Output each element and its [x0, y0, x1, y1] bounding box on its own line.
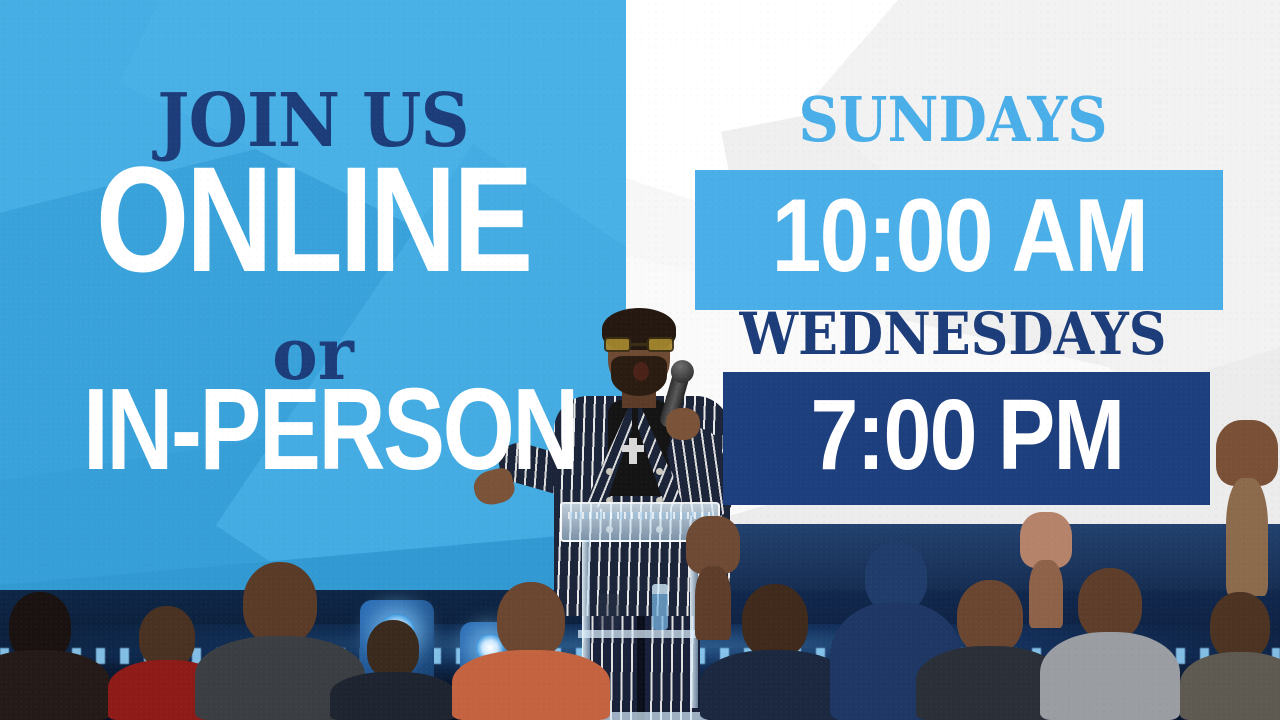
schedule-time-wednesdays: 7:00 PM	[810, 385, 1123, 493]
schedule-day-wednesdays: WEDNESDAYS	[659, 308, 1248, 360]
in-person-heading: IN-PERSON	[66, 378, 594, 480]
online-heading: ONLINE	[63, 155, 564, 284]
schedule-time-band-wednesdays: 7:00 PM	[723, 372, 1210, 505]
schedule-time-band-sundays: 10:00 AM	[695, 170, 1223, 310]
service-times-graphic: JOIN US ONLINE or IN-PERSON SUNDAYS 10:0…	[0, 0, 1280, 720]
headline-group: JOIN US ONLINE or IN-PERSON	[0, 0, 626, 720]
schedule-time-sundays: 10:00 AM	[771, 184, 1147, 296]
schedule-group: SUNDAYS 10:00 AM WEDNESDAYS 7:00 PM	[626, 0, 1280, 720]
schedule-day-sundays: SUNDAYS	[659, 92, 1248, 148]
